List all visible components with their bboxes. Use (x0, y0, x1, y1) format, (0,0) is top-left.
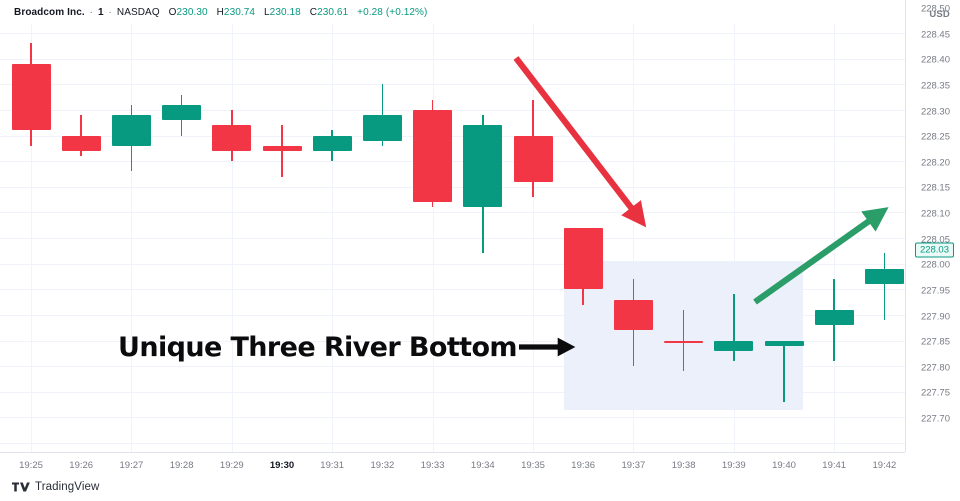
gridline-horizontal (0, 84, 905, 85)
tradingview-mark-icon (12, 481, 30, 493)
candle-body (62, 136, 101, 151)
time-tick: 19:37 (622, 460, 646, 471)
gridline-horizontal (0, 212, 905, 213)
legend-separator-2: · (109, 7, 112, 18)
price-tick: 228.20 (921, 157, 950, 168)
price-tick: 228.10 (921, 209, 950, 220)
time-tick: 19:41 (822, 460, 846, 471)
candle-wick (281, 125, 283, 176)
gridline-vertical (232, 24, 233, 452)
time-tick: 19:27 (120, 460, 144, 471)
candle-body (162, 105, 201, 120)
ohlc-close-value: 230.61 (317, 7, 348, 18)
current-price-tag: 228.03 (915, 242, 954, 257)
time-tick: 19:25 (19, 460, 43, 471)
gridline-horizontal (0, 59, 905, 60)
candle-body (413, 110, 452, 202)
chart-plot-area[interactable] (0, 24, 905, 452)
ohlc-open-value: 230.30 (177, 7, 208, 18)
time-tick: 19:31 (320, 460, 344, 471)
candle-wick (733, 294, 735, 361)
gridline-vertical (332, 24, 333, 452)
price-tick: 228.25 (921, 132, 950, 143)
time-tick: 19:42 (873, 460, 897, 471)
price-tick: 228.45 (921, 29, 950, 40)
candle-body (263, 146, 302, 151)
ohlc-close-label: C (310, 7, 317, 18)
candle-body (564, 228, 603, 290)
legend-separator-1: · (90, 7, 93, 18)
candle-body (313, 136, 352, 151)
candle-body (212, 125, 251, 151)
price-tick: 227.75 (921, 388, 950, 399)
gridline-vertical (834, 24, 835, 452)
ohlc-open-label: O (169, 7, 177, 18)
candle-body (112, 115, 151, 146)
gridline-vertical (131, 24, 132, 452)
price-tick: 227.85 (921, 337, 950, 348)
candle-body (614, 300, 653, 331)
chart-screenshot: Broadcom Inc. · 1 · NASDAQ O230.30 H230.… (0, 0, 960, 501)
time-tick: 19:40 (772, 460, 796, 471)
gridline-horizontal (0, 110, 905, 111)
time-tick: 19:28 (170, 460, 194, 471)
candle-body (815, 310, 854, 325)
gridline-horizontal (0, 161, 905, 162)
price-tick: 228.40 (921, 55, 950, 66)
time-tick: 19:39 (722, 460, 746, 471)
exchange-label: NASDAQ (117, 7, 160, 18)
gridline-horizontal (0, 443, 905, 444)
time-axis[interactable]: 19:2519:2619:2719:2819:2919:3019:3119:32… (0, 452, 905, 479)
symbol-name[interactable]: Broadcom Inc. (14, 7, 85, 18)
ohlc-low-value: 230.18 (270, 7, 301, 18)
gridline-vertical (433, 24, 434, 452)
tradingview-wordmark: TradingView (35, 481, 99, 493)
interval-label[interactable]: 1 (98, 7, 104, 18)
price-tick: 228.35 (921, 80, 950, 91)
price-axis[interactable]: USD 228.50228.45228.40228.35228.30228.25… (905, 0, 960, 452)
price-tick: 228.15 (921, 183, 950, 194)
candle-body (12, 64, 51, 131)
candle-body (463, 125, 502, 207)
candle-body (363, 115, 402, 141)
time-tick: 19:34 (471, 460, 495, 471)
time-tick: 19:32 (371, 460, 395, 471)
gridline-horizontal (0, 187, 905, 188)
price-tick: 228.30 (921, 106, 950, 117)
tradingview-logo[interactable]: TradingView (12, 481, 99, 493)
time-tick: 19:30 (270, 460, 294, 471)
candle-body (714, 341, 753, 351)
time-tick: 19:33 (421, 460, 445, 471)
time-tick: 19:26 (69, 460, 93, 471)
candle-wick (783, 346, 785, 402)
ohlc-high-label: H (217, 7, 224, 18)
candle-body (514, 136, 553, 182)
time-tick: 19:29 (220, 460, 244, 471)
candle-body (664, 341, 703, 344)
chart-legend: Broadcom Inc. · 1 · NASDAQ O230.30 H230.… (14, 7, 427, 19)
ohlc-high-value: 230.74 (224, 7, 255, 18)
price-tick: 227.90 (921, 311, 950, 322)
gridline-horizontal (0, 238, 905, 239)
gridline-vertical (533, 24, 534, 452)
pattern-label: Unique Three River Bottom (118, 332, 517, 363)
candle-body (865, 269, 904, 284)
time-tick: 19:36 (571, 460, 595, 471)
candle-wick (884, 253, 886, 320)
price-tick: 227.95 (921, 285, 950, 296)
time-tick: 19:35 (521, 460, 545, 471)
price-tick: 228.50 (921, 4, 950, 15)
price-tick: 227.80 (921, 362, 950, 373)
gridline-horizontal (0, 33, 905, 34)
candle-body (765, 341, 804, 346)
change-value: +0.28 (+0.12%) (357, 7, 427, 18)
price-tick: 228.00 (921, 260, 950, 271)
price-tick: 227.70 (921, 414, 950, 425)
time-tick: 19:38 (672, 460, 696, 471)
gridline-horizontal (0, 417, 905, 418)
